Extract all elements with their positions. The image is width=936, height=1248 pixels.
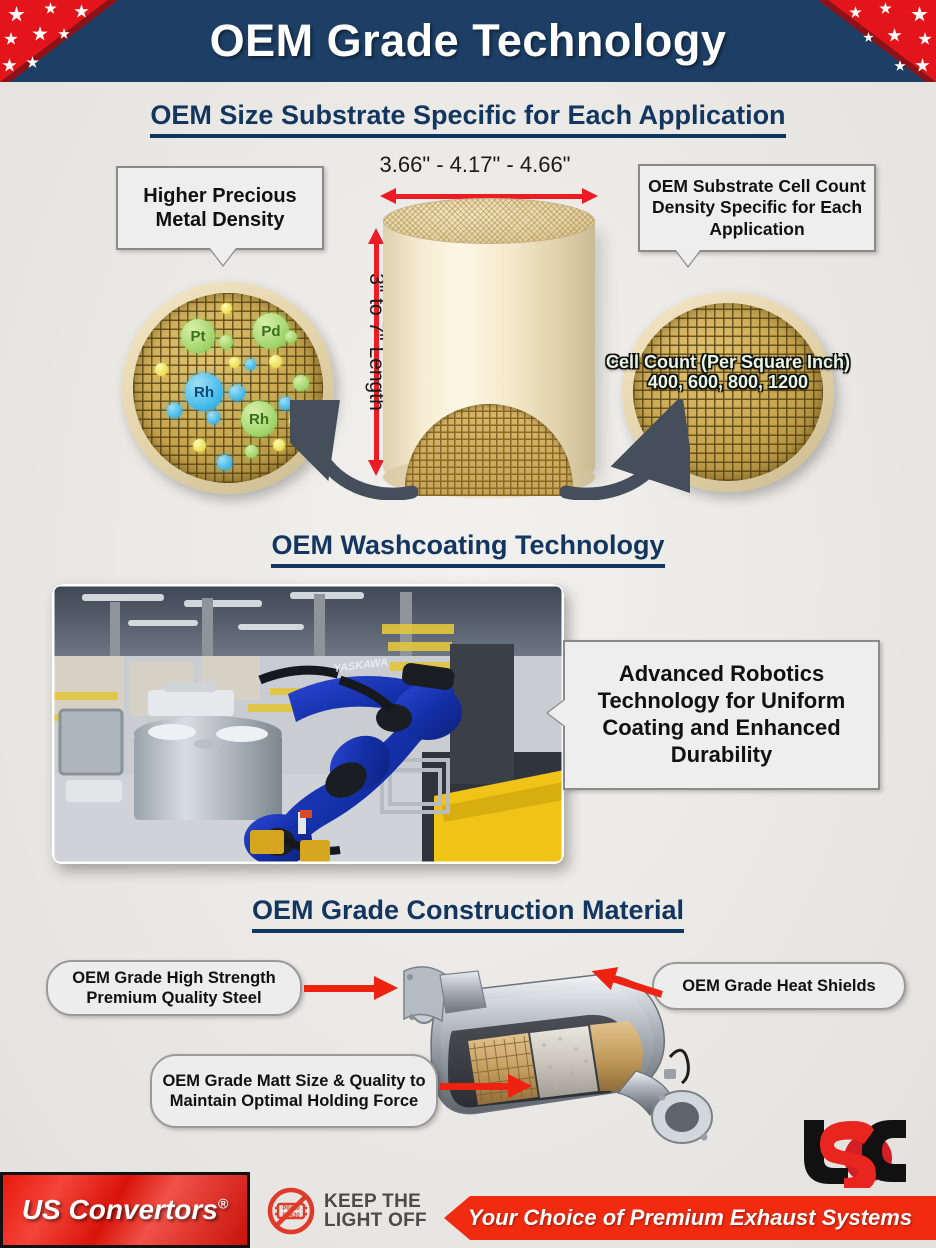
registered-mark: ®: [218, 1196, 228, 1212]
arrow-to-steel-icon: [304, 982, 398, 994]
cell-count-values: 400, 600, 800, 1200: [598, 372, 858, 392]
infographic-page: OEM Grade Technology OEM Size Substrate …: [0, 0, 936, 1248]
section-heading-construction: OEM Grade Construction Material: [0, 895, 936, 933]
substrate-honeycomb-face: [383, 198, 595, 244]
particle-dot: [245, 445, 258, 458]
particle-dot: [193, 439, 206, 452]
particle-dot: [219, 335, 233, 349]
particle-dot: [273, 439, 285, 451]
section-heading-washcoating-text: OEM Washcoating Technology: [271, 530, 664, 568]
footer-tagline-banner: Your Choice of Premium Exhaust Systems: [444, 1196, 936, 1240]
keep-light-line-1: KEEP THE: [324, 1192, 427, 1211]
brand-name: US Convertors: [22, 1194, 218, 1225]
callout-steel-text: OEM Grade High Strength Premium Quality …: [56, 968, 292, 1008]
callout-robotics-text: Advanced Robotics Technology for Uniform…: [573, 661, 870, 768]
particle-dot: [207, 411, 220, 424]
particle-dot: [221, 303, 232, 314]
section-heading-washcoating: OEM Washcoating Technology: [0, 530, 936, 568]
page-header: OEM Grade Technology: [0, 0, 936, 82]
callout-higher-precious-metal-density: Higher Precious Metal Density: [116, 166, 324, 250]
keep-light-line-2: LIGHT OFF: [324, 1211, 427, 1230]
particle-dot: [229, 385, 245, 401]
callout-tail: [676, 250, 700, 266]
keep-the-light-off-badge: P0420 P0430 KEEP THE LIGHT OFF: [266, 1184, 438, 1238]
particle-dot: [245, 359, 256, 370]
section-heading-substrate-text: OEM Size Substrate Specific for Each App…: [150, 100, 785, 138]
callout-heat-shields: OEM Grade Heat Shields: [652, 962, 906, 1010]
cell-count-annotation: Cell Count (Per Square Inch) 400, 600, 8…: [598, 352, 858, 392]
brand-logo-us-convertors: US Convertors®: [0, 1172, 250, 1248]
callout-precious-text: Higher Precious Metal Density: [126, 184, 314, 233]
section-heading-construction-text: OEM Grade Construction Material: [252, 895, 684, 933]
washcoating-robot-photo: YASKAWA: [52, 584, 564, 864]
particle-dot: [167, 403, 182, 418]
callout-high-strength-steel: OEM Grade High Strength Premium Quality …: [46, 960, 302, 1016]
section-heading-substrate: OEM Size Substrate Specific for Each App…: [0, 100, 936, 138]
callout-matt-text: OEM Grade Matt Size & Quality to Maintai…: [160, 1071, 428, 1111]
particle-dot: [229, 357, 240, 368]
particle-dot: [155, 363, 168, 376]
substrate-diameter-label: 3.66" - 4.17" - 4.66": [330, 152, 620, 178]
particle-dot: [269, 355, 282, 368]
callout-advanced-robotics: Advanced Robotics Technology for Uniform…: [563, 640, 880, 790]
curved-arrow-right-icon: [560, 400, 690, 500]
metal-particle-rh-blue: Rh: [185, 373, 223, 411]
callout-heat-text: OEM Grade Heat Shields: [682, 976, 875, 996]
callout-tail: [210, 248, 236, 265]
callout-oem-substrate-cell-count: OEM Substrate Cell Count Density Specifi…: [638, 164, 876, 252]
arrow-to-matt-icon: [440, 1080, 532, 1092]
cell-count-title: Cell Count (Per Square Inch): [598, 352, 858, 372]
metal-particle-pd: Pd: [253, 313, 289, 349]
page-title: OEM Grade Technology: [0, 0, 936, 82]
no-check-engine-light-icon: P0420 P0430: [266, 1186, 316, 1236]
curved-arrow-left-icon: [290, 400, 420, 500]
metal-particle-pt: Pt: [181, 319, 215, 353]
metal-particle-rh-green: Rh: [241, 401, 277, 437]
footer-tagline-text: Your Choice of Premium Exhaust Systems: [468, 1205, 912, 1231]
callout-cellcount-text: OEM Substrate Cell Count Density Specifi…: [648, 176, 866, 240]
particle-dot: [285, 331, 297, 343]
callout-matt-size-quality: OEM Grade Matt Size & Quality to Maintai…: [150, 1054, 438, 1128]
particle-dot: [217, 455, 232, 470]
callout-tail: [548, 700, 565, 726]
particle-dot: [293, 375, 309, 391]
